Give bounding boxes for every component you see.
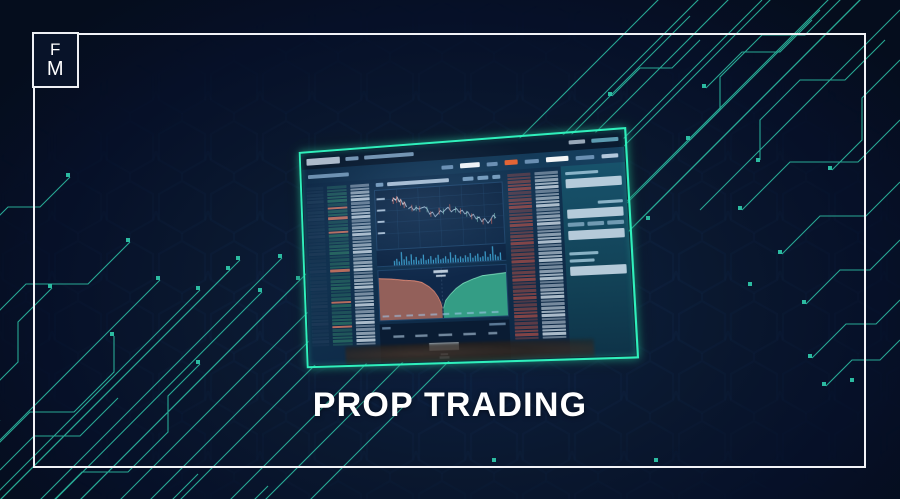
order-book-row[interactable] <box>355 314 374 317</box>
terminal-menu-item <box>569 139 586 144</box>
terminal-account-label <box>591 137 618 143</box>
order-book-row[interactable] <box>312 333 329 336</box>
order-book-row[interactable] <box>352 236 371 240</box>
ticker-value <box>460 162 480 168</box>
order-book-row[interactable] <box>311 305 328 308</box>
order-book-row[interactable] <box>333 332 352 335</box>
ticker-pair <box>308 172 349 179</box>
order-book-row[interactable] <box>312 344 329 347</box>
order-book-row[interactable] <box>310 281 327 284</box>
order-book-row[interactable] <box>308 239 325 242</box>
fm-logo-letter-f: F <box>50 41 61 58</box>
panel-heading <box>565 170 599 175</box>
promo-banner: F M <box>0 0 900 499</box>
terminal-logo-placeholder <box>306 156 340 165</box>
candlestick-chart[interactable] <box>374 181 506 250</box>
ticker-label <box>576 154 595 159</box>
order-book-row[interactable] <box>514 314 537 318</box>
order-book-row[interactable] <box>354 296 373 299</box>
fm-logo-letter-m: M <box>47 59 64 79</box>
order-book-row[interactable] <box>309 263 326 266</box>
order-book-row[interactable] <box>329 237 348 241</box>
ticker-label <box>441 164 453 169</box>
order-book-row[interactable] <box>513 289 536 293</box>
order-book-row[interactable] <box>312 323 329 326</box>
percent-button[interactable] <box>607 220 624 225</box>
ticker-label <box>487 161 498 166</box>
order-amount-input[interactable] <box>565 176 622 189</box>
ticker-value <box>546 156 569 163</box>
order-book-row[interactable] <box>515 333 539 336</box>
order-total-input[interactable] <box>568 228 625 240</box>
terminal-menu-item <box>345 156 358 161</box>
order-book-row[interactable] <box>331 279 350 282</box>
order-book-row[interactable] <box>542 313 566 317</box>
order-book-row[interactable] <box>542 324 566 328</box>
order-book-row[interactable] <box>333 322 352 325</box>
ticker-change-negative <box>504 159 517 165</box>
order-book-row[interactable] <box>540 288 564 292</box>
percent-buttons[interactable] <box>568 220 624 227</box>
order-book-row[interactable] <box>332 297 351 300</box>
order-book-row[interactable] <box>355 321 374 324</box>
order-book-row[interactable] <box>332 315 351 318</box>
order-book-right[interactable] <box>504 166 571 359</box>
ticker-label <box>525 158 539 163</box>
percent-button[interactable] <box>587 221 604 226</box>
fm-logo: F M <box>32 32 79 88</box>
chart-area <box>372 170 514 363</box>
order-book-row[interactable] <box>514 307 537 311</box>
trading-terminal-graphic <box>298 142 626 360</box>
order-book-row[interactable] <box>308 221 325 225</box>
order-book-row[interactable] <box>515 325 539 329</box>
order-book-row[interactable] <box>311 298 328 301</box>
panel-sublabel <box>597 199 623 204</box>
order-book-row[interactable] <box>356 331 375 334</box>
ticker-label <box>601 153 618 158</box>
balance-value <box>570 258 595 262</box>
order-book-row[interactable] <box>311 316 328 319</box>
order-book-row[interactable] <box>312 340 329 343</box>
market-depth-chart <box>377 264 509 322</box>
order-price-input[interactable] <box>567 206 624 219</box>
order-book-row[interactable] <box>354 278 373 281</box>
balance-label <box>569 251 598 256</box>
terminal-menu-item <box>364 152 414 160</box>
order-book-row[interactable] <box>542 332 566 335</box>
submit-order-button[interactable] <box>570 264 627 276</box>
order-book-left[interactable] <box>303 180 380 366</box>
page-title: PROP TRADING <box>0 386 900 425</box>
order-book-row[interactable] <box>333 339 352 342</box>
percent-button[interactable] <box>568 222 585 227</box>
order-entry-panel[interactable] <box>561 162 636 357</box>
order-book-row[interactable] <box>356 339 375 342</box>
order-book-row[interactable] <box>541 306 565 310</box>
trading-terminal-screen <box>302 130 636 365</box>
